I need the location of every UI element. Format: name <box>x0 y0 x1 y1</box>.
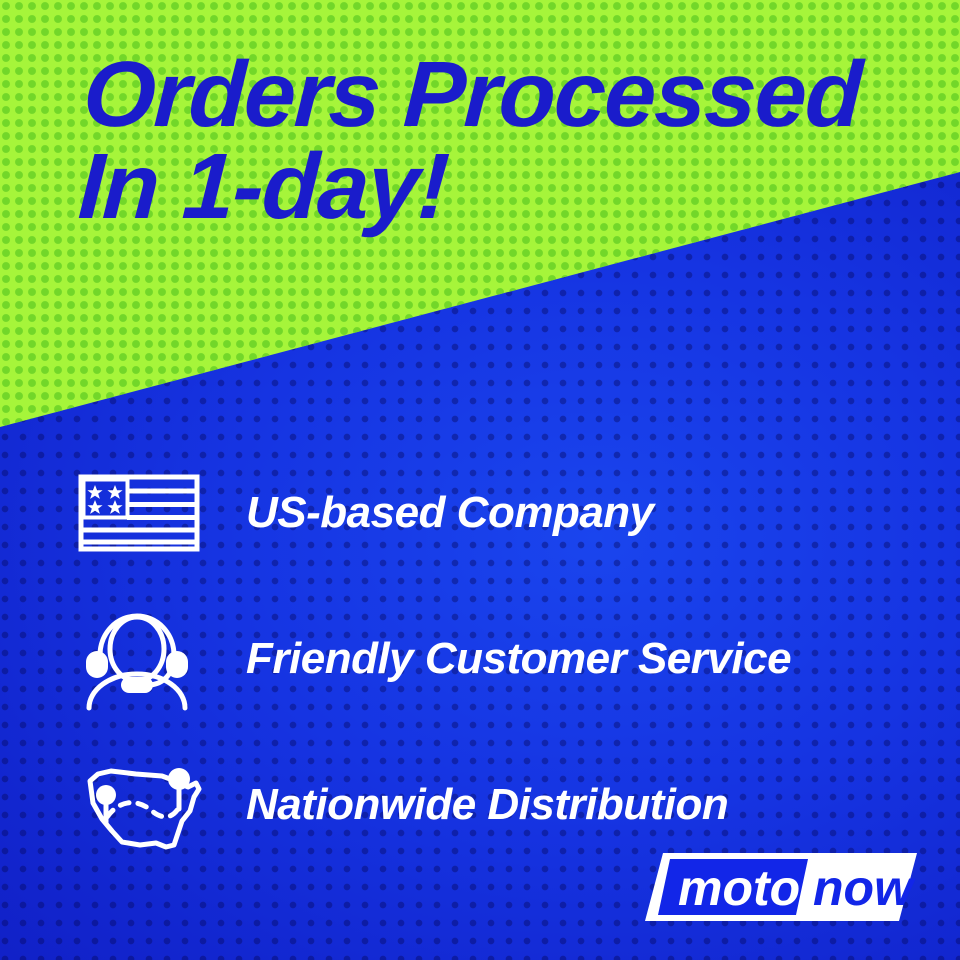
us-flag-icon <box>78 458 202 568</box>
logo-text-now: now <box>813 860 916 916</box>
feature-list: US-based Company <box>78 440 958 878</box>
logo-text-moto: moto <box>678 860 800 916</box>
feature-label: US-based Company <box>246 488 654 538</box>
headline: Orders Processed In 1-day! <box>76 48 926 232</box>
motonow-logo[interactable]: moto now <box>645 853 917 921</box>
feature-label: Nationwide Distribution <box>246 780 728 830</box>
promo-banner: Orders Processed In 1-day! <box>0 0 960 960</box>
feature-item: Friendly Customer Service <box>78 586 958 732</box>
us-map-pins-icon <box>78 750 202 860</box>
feature-label: Friendly Customer Service <box>246 634 791 684</box>
feature-item: US-based Company <box>78 440 958 586</box>
headset-icon <box>78 604 202 714</box>
